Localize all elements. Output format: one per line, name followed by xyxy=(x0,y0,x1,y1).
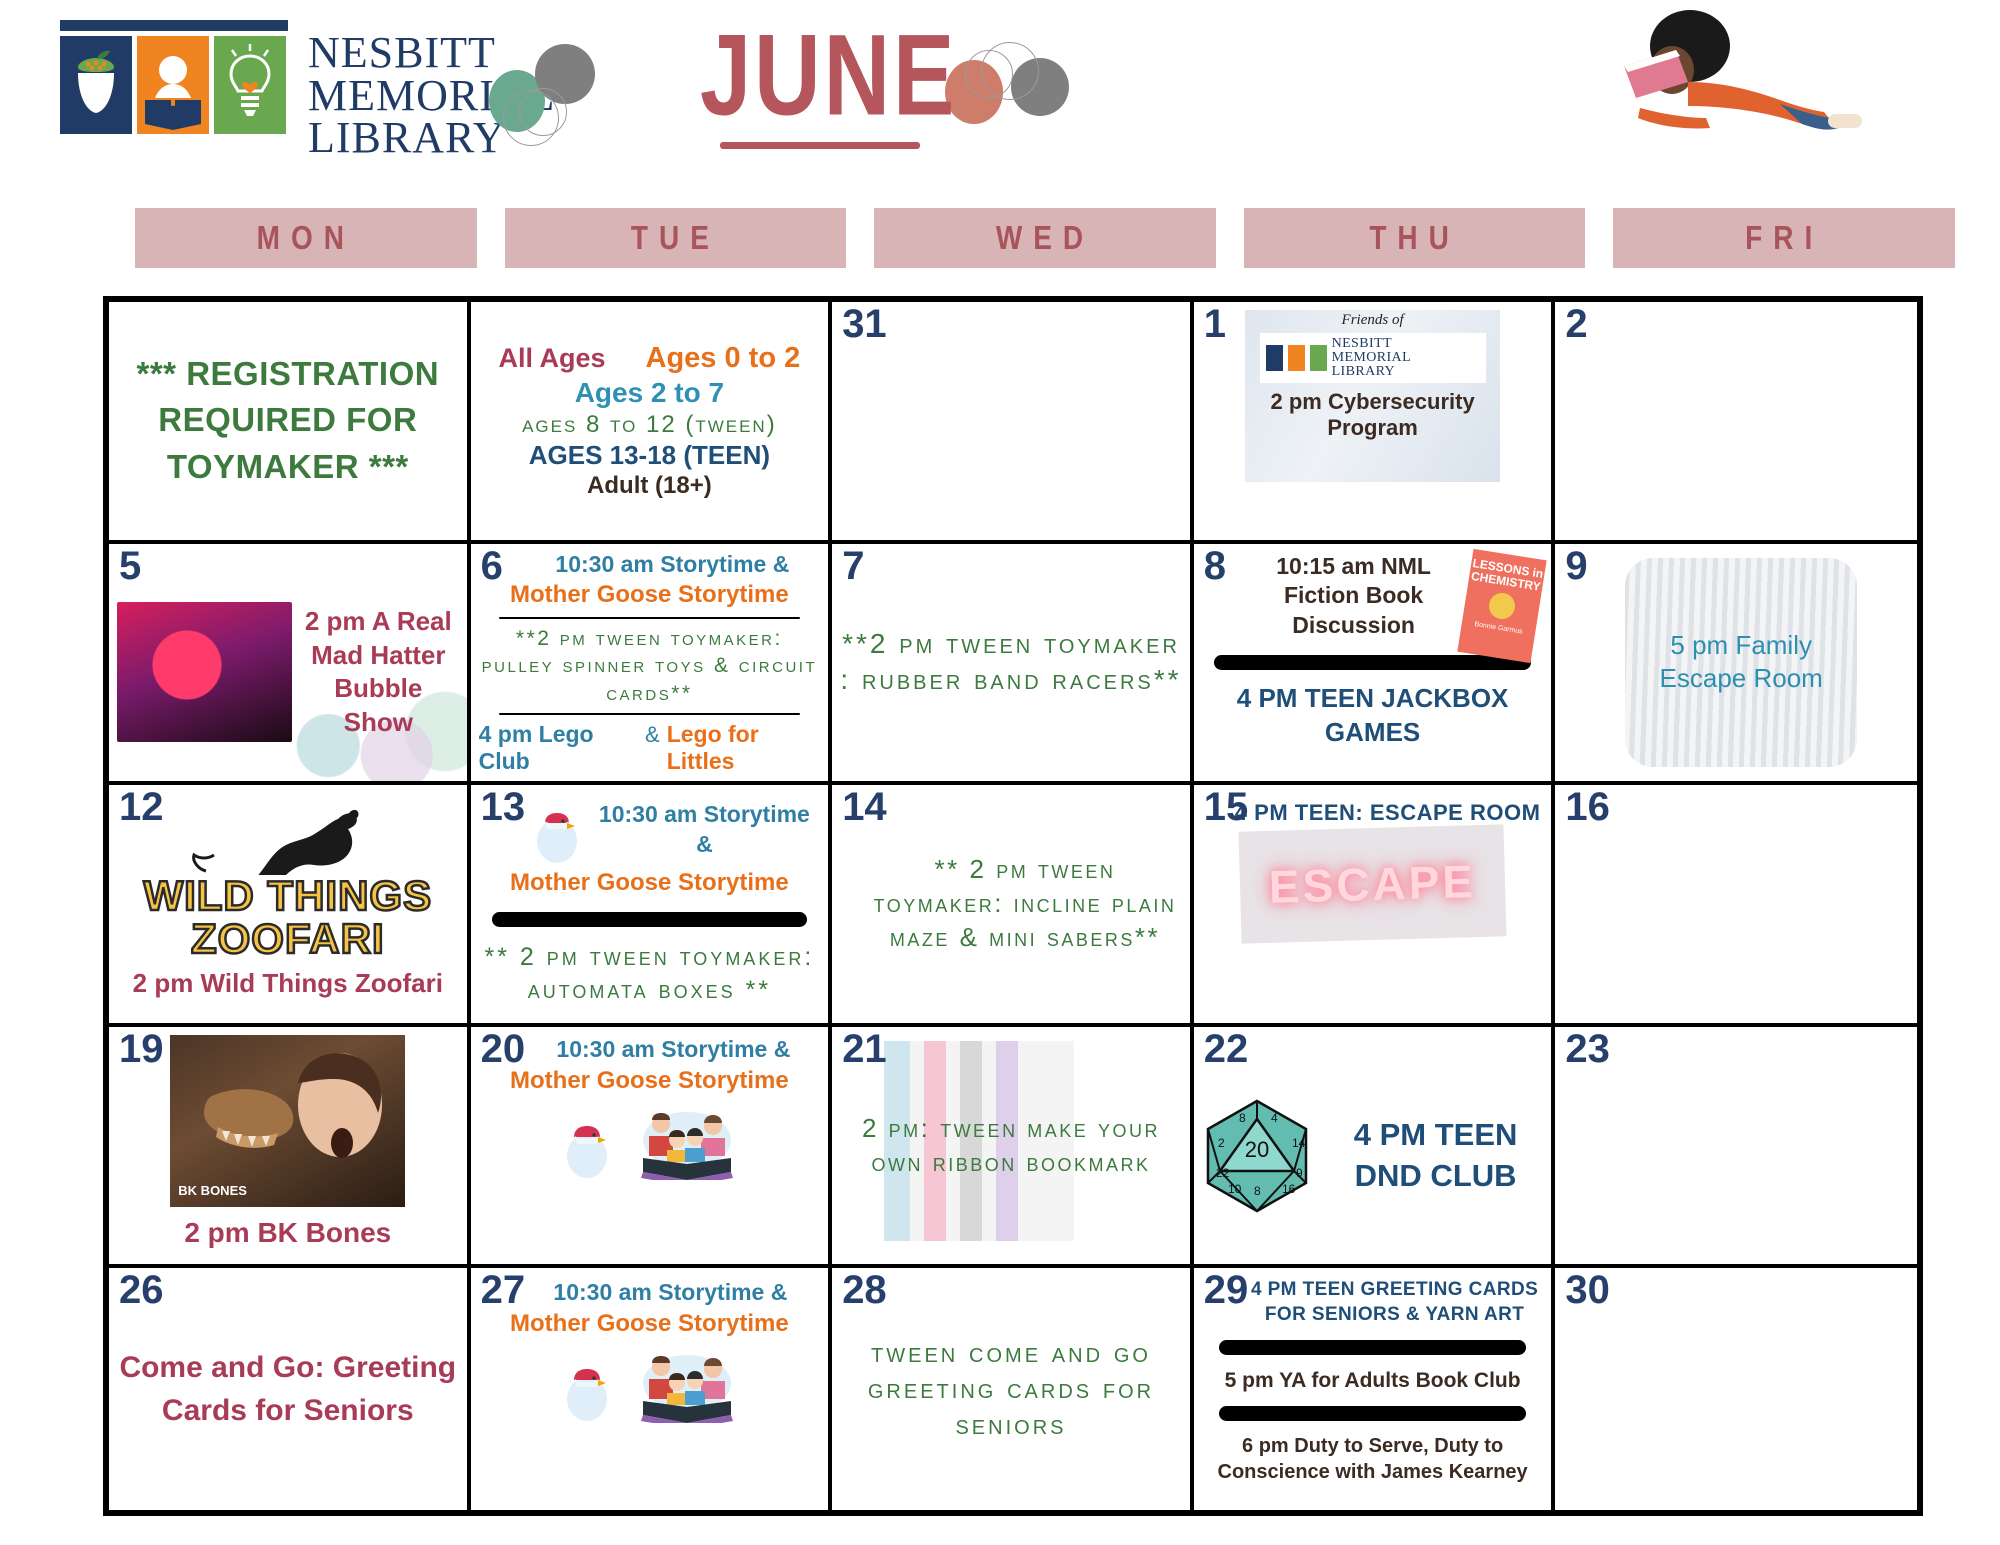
child-reading-illustration xyxy=(1580,8,1890,158)
day-number: 23 xyxy=(1565,1029,1610,1069)
calendar-cell-june-23[interactable]: 23 xyxy=(1555,1027,1917,1269)
calendar-cell-june-9[interactable]: 9 5 pm Family Escape Room xyxy=(1555,544,1917,786)
page-header: NESBITT MEMORIAL LIBRARY JUNE xyxy=(0,0,2000,175)
day-number: 9 xyxy=(1565,546,1587,586)
day-number: 26 xyxy=(119,1270,164,1310)
toymaker-label: ** 2 pm Tween Toymaker: Automata Boxes *… xyxy=(479,941,821,1006)
decorative-circles-right xyxy=(945,30,1125,140)
day-number: 1 xyxy=(1204,304,1226,344)
day-number: 8 xyxy=(1204,546,1226,586)
day-number: 27 xyxy=(481,1270,526,1310)
bk-bones-photo: BK BONES xyxy=(170,1035,405,1207)
day-number: 12 xyxy=(119,787,164,827)
event-text: ** 2 pm Tween Toymaker: Incline Plain Ma… xyxy=(868,853,1182,954)
calendar-cell-june-1[interactable]: 1 Friends of NESBITT MEMORIAL LIBRARY 2 … xyxy=(1194,302,1556,544)
mother-goose-label: Mother Goose Storytime xyxy=(510,1308,789,1339)
month-label: JUNE xyxy=(700,18,940,133)
calendar-cell-june-16[interactable]: 16 xyxy=(1555,785,1917,1027)
logo-tiles xyxy=(60,36,290,134)
svg-text:22: 22 xyxy=(1216,1166,1230,1180)
weekday-header-mon: MON xyxy=(135,208,477,268)
day-number: 20 xyxy=(481,1029,526,1069)
age-legend: All Ages Ages 0 to 2 Ages 2 to 7 Ages 8 … xyxy=(479,341,821,501)
library-logo: NESBITT MEMORIAL LIBRARY xyxy=(60,20,556,160)
day-number: 2 xyxy=(1565,304,1587,344)
calendar-cell-june-13[interactable]: 13 10:30 am Storytime & Mother Goose Sto… xyxy=(471,785,833,1027)
mother-goose-label: Mother Goose Storytime xyxy=(510,1065,789,1096)
svg-text:9: 9 xyxy=(1296,1166,1303,1180)
storytime-label: 10:30 am Storytime & xyxy=(508,1035,790,1065)
event-text: **2 pm Tween Toymaker : Rubber Band Race… xyxy=(840,626,1182,699)
escape-room-photo: 5 pm Family Escape Room xyxy=(1625,558,1857,768)
bubble-show-photo xyxy=(117,602,292,742)
cybersecurity-flyer: Friends of NESBITT MEMORIAL LIBRARY 2 pm… xyxy=(1245,310,1500,482)
reader-icon xyxy=(137,36,209,134)
legend-all-ages: All Ages xyxy=(499,342,606,375)
divider-bar xyxy=(492,912,806,927)
svg-text:16: 16 xyxy=(1282,1182,1296,1196)
friends-of-label: Friends of xyxy=(1245,310,1500,329)
calendar-cell-june-22[interactable]: 22 20 84 214 229 81016 4 PM TEEN DND CLU… xyxy=(1194,1027,1556,1269)
calendar-cell-june-7[interactable]: 7 **2 pm Tween Toymaker : Rubber Band Ra… xyxy=(832,544,1194,786)
greeting-cards-label: 4 PM TEEN GREETING CARDS FOR SENIORS & Y… xyxy=(1202,1278,1544,1327)
storytime-label: 10:30 am Storytime & xyxy=(511,1278,787,1308)
mother-goose-icon xyxy=(561,1106,613,1180)
event-text: 4 PM TEEN: ESCAPE ROOM xyxy=(1235,799,1541,828)
month-title: JUNE xyxy=(700,18,940,149)
day-number: 16 xyxy=(1565,787,1610,827)
book-cover-dot xyxy=(1487,591,1517,621)
book-title: LESSONS in CHEMISTRY xyxy=(1469,556,1546,592)
storytime-label: 10:30 am Storytime & xyxy=(589,800,821,860)
day-number: 22 xyxy=(1204,1029,1249,1069)
weekday-header-fri: FRI xyxy=(1613,208,1955,268)
family-reading-icon xyxy=(637,1349,737,1423)
divider-bar xyxy=(1219,1340,1526,1355)
event-text: 2 pm: Tween Make Your Own Ribbon Bookmar… xyxy=(840,1112,1182,1180)
mother-goose-icon xyxy=(531,793,583,867)
day-number: 19 xyxy=(119,1029,164,1069)
lightbulb-icon xyxy=(214,36,286,134)
day-number: 7 xyxy=(842,546,864,586)
calendar-cell-june-2[interactable]: 2 xyxy=(1555,302,1917,544)
legend-ages-8-12: Ages 8 to 12 (Tween) xyxy=(479,410,821,439)
calendar-cell-june-19[interactable]: 19 BK BONES 2 pm BK Bones xyxy=(109,1027,471,1269)
jackbox-label: 4 PM TEEN JACKBOX GAMES xyxy=(1202,682,1544,750)
decorative-circles-left xyxy=(487,26,667,136)
mother-goose-label: Mother Goose Storytime xyxy=(510,867,789,898)
ampersand: & xyxy=(645,722,660,748)
day-number: 13 xyxy=(481,787,526,827)
book-club-label: 5 pm YA for Adults Book Club xyxy=(1225,1367,1521,1394)
divider-bar xyxy=(1219,1406,1526,1421)
weekday-header-row: MON TUE WED THU FRI xyxy=(135,213,1955,263)
calendar-cell-age-legend[interactable]: All Ages Ages 0 to 2 Ages 2 to 7 Ages 8 … xyxy=(471,302,833,544)
calendar-cell-june-6[interactable]: 6 10:30 am Storytime & Mother Goose Stor… xyxy=(471,544,833,786)
zoofari-line-2: ZOOFARI xyxy=(143,918,432,961)
calendar-cell-june-26[interactable]: 26 Come and Go: Greeting Cards for Senio… xyxy=(109,1268,471,1510)
registration-note: *** REGISTRATION REQUIRED FOR TOYMAKER *… xyxy=(117,351,459,492)
day-number: 6 xyxy=(481,546,503,586)
lego-littles-label: Lego for Littles xyxy=(667,721,821,775)
event-text: 2 pm Cybersecurity Program xyxy=(1245,385,1500,446)
book-author: Bonnie Garmus xyxy=(1474,621,1523,636)
svg-text:8: 8 xyxy=(1254,1184,1261,1198)
legend-ages-2-7: Ages 2 to 7 xyxy=(479,376,821,410)
calendar-cell-june-15[interactable]: 15 4 PM TEEN: ESCAPE ROOM ESCAPE xyxy=(1194,785,1556,1027)
day-number: 14 xyxy=(842,787,887,827)
weekday-header-tue: TUE xyxy=(505,208,847,268)
family-reading-icon xyxy=(637,1106,737,1180)
toymaker-label: **2 pm Tween Toymaker: Pulley Spinner To… xyxy=(479,625,821,707)
calendar-cell-june-8[interactable]: 8 10:15 am NML Fiction Book Discussion L… xyxy=(1194,544,1556,786)
event-text: 5 pm Family Escape Room xyxy=(1625,629,1857,697)
svg-text:8: 8 xyxy=(1239,1111,1246,1125)
svg-text:2: 2 xyxy=(1218,1136,1225,1150)
logo-top-bar xyxy=(60,20,288,31)
acorn-icon xyxy=(60,36,132,134)
zoofari-line-1: WILD THINGS xyxy=(143,875,432,918)
dinosaur-skull-icon xyxy=(170,1035,405,1207)
calendar-cell-june-29[interactable]: 29 4 PM TEEN GREETING CARDS FOR SENIORS … xyxy=(1194,1268,1556,1510)
neon-sign-text: ESCAPE xyxy=(1268,854,1477,914)
legend-ages-13-18: AGES 13-18 (TEEN) xyxy=(479,440,821,472)
event-text: Come and Go: Greeting Cards for Seniors xyxy=(117,1346,459,1433)
friends-logo-text: NESBITT MEMORIAL LIBRARY xyxy=(1332,337,1411,379)
book-cover-thumbnail: LESSONS in CHEMISTRY Bonnie Garmus xyxy=(1458,548,1547,662)
calendar-cell-registration-note[interactable]: *** REGISTRATION REQUIRED FOR TOYMAKER *… xyxy=(109,302,471,544)
divider-bar xyxy=(1214,655,1532,670)
bk-bones-badge: BK BONES xyxy=(178,1184,247,1197)
day-number: 15 xyxy=(1204,787,1249,827)
lego-club-label: 4 pm Lego Club xyxy=(479,721,638,775)
weekday-header-wed: WED xyxy=(874,208,1216,268)
logo-mark xyxy=(60,20,290,134)
calendar-cell-june-14[interactable]: 14 ** 2 pm Tween Toymaker: Incline Plain… xyxy=(832,785,1194,1027)
weekday-header-thu: THU xyxy=(1244,208,1586,268)
calendar-cell-june-28[interactable]: 28 Tween Come and go greeting Cards for … xyxy=(832,1268,1194,1510)
duty-to-serve-label: 6 pm Duty to Serve, Duty to Conscience w… xyxy=(1202,1433,1544,1485)
month-underline xyxy=(720,142,920,149)
day-number: 31 xyxy=(842,304,887,344)
escape-neon-sign: ESCAPE xyxy=(1239,824,1507,943)
event-text: 2 pm A Real Mad Hatter Bubble Show xyxy=(298,605,459,740)
calendar-grid: *** REGISTRATION REQUIRED FOR TOYMAKER *… xyxy=(103,296,1923,1516)
mother-goose-label: Mother Goose Storytime xyxy=(510,579,789,610)
day-number: 29 xyxy=(1204,1270,1249,1310)
event-text: Tween Come and go greeting Cards for Sen… xyxy=(840,1335,1182,1444)
storytime-label: 10:30 am Storytime & xyxy=(509,550,789,580)
calendar-cell-june-27[interactable]: 27 10:30 am Storytime & Mother Goose Sto… xyxy=(471,1268,833,1510)
svg-text:4: 4 xyxy=(1271,1111,1278,1125)
mother-goose-icon xyxy=(561,1349,613,1423)
zoofari-logo: WILD THINGS ZOOFARI xyxy=(143,875,432,961)
divider-bar xyxy=(499,617,800,619)
calendar-cell-june-30[interactable]: 30 xyxy=(1555,1268,1917,1510)
calendar-cell-may-31[interactable]: 31 xyxy=(832,302,1194,544)
event-text: 2 pm Wild Things Zoofari xyxy=(133,967,443,1001)
calendar-cell-june-21[interactable]: 21 2 pm: Tween Make Your Own Ribbon Book… xyxy=(832,1027,1194,1269)
svg-text:10: 10 xyxy=(1228,1182,1242,1196)
day-number: 28 xyxy=(842,1270,887,1310)
calendar-cell-june-5[interactable]: 5 2 pm A Real Mad Hatter Bubble Show xyxy=(109,544,471,786)
d20-dice-icon: 20 84 214 229 81016 xyxy=(1202,1097,1312,1215)
divider-bar xyxy=(499,713,800,715)
legend-ages-0-2: Ages 0 to 2 xyxy=(646,341,801,376)
friends-logo: NESBITT MEMORIAL LIBRARY xyxy=(1260,333,1486,383)
d20-value: 20 xyxy=(1245,1137,1269,1162)
day-number: 5 xyxy=(119,546,141,586)
legend-adult: Adult (18+) xyxy=(479,471,821,500)
calendar-cell-june-20[interactable]: 20 10:30 am Storytime & Mother Goose Sto… xyxy=(471,1027,833,1269)
day-number: 30 xyxy=(1565,1270,1610,1310)
event-text: 4 PM TEEN DND CLUB xyxy=(1328,1115,1544,1196)
svg-text:14: 14 xyxy=(1292,1136,1306,1150)
calendar-cell-june-12[interactable]: 12 WILD THINGS ZOOFARI 2 pm Wild Things … xyxy=(109,785,471,1027)
day-number: 21 xyxy=(842,1029,887,1069)
event-text: 2 pm BK Bones xyxy=(184,1215,391,1251)
kangaroo-icon xyxy=(188,809,388,875)
